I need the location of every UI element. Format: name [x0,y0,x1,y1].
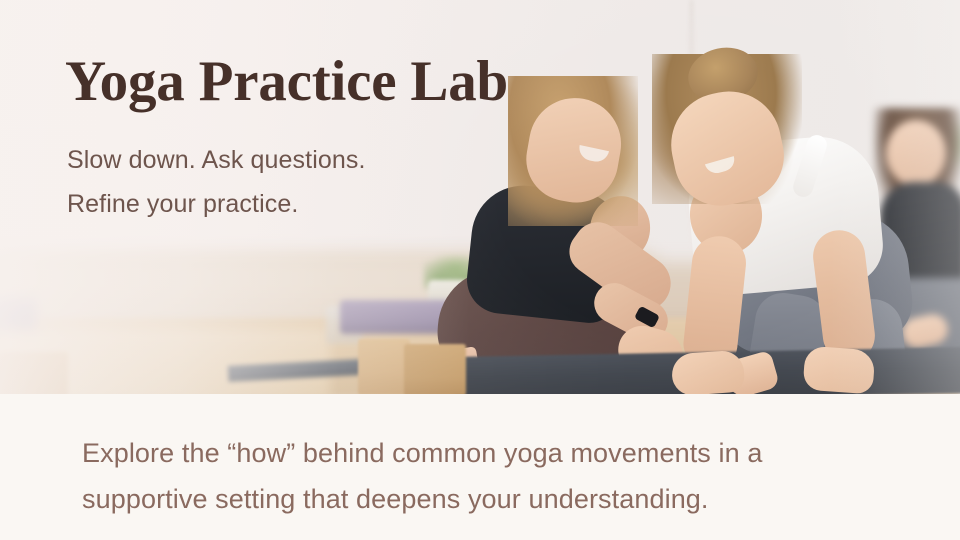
cork-yoga-block-back [358,339,410,394]
student-hand-right [803,346,876,394]
subtitle: Slow down. Ask questions.Refine your pra… [67,138,366,226]
page-title: Yoga Practice Lab [65,52,508,112]
hero-photo: Yoga Practice Lab Slow down. Ask questio… [0,0,960,394]
subtitle-line-2: Refine your practice. [67,190,298,218]
subtitle-line-1: Slow down. Ask questions. [67,146,366,174]
body-copy: Explore the “how” behind common yoga mov… [82,430,782,522]
cork-yoga-block-front [404,344,466,394]
description-band: Explore the “how” behind common yoga mov… [0,394,960,540]
yoga-practice-lab-slide: Yoga Practice Lab Slow down. Ask questio… [0,0,960,540]
background-woman-head [886,120,946,186]
cork-yoga-block-left [0,352,68,394]
purple-yoga-block-left [0,298,36,330]
student-hand-left [671,350,746,394]
purple-yoga-block [340,300,450,334]
